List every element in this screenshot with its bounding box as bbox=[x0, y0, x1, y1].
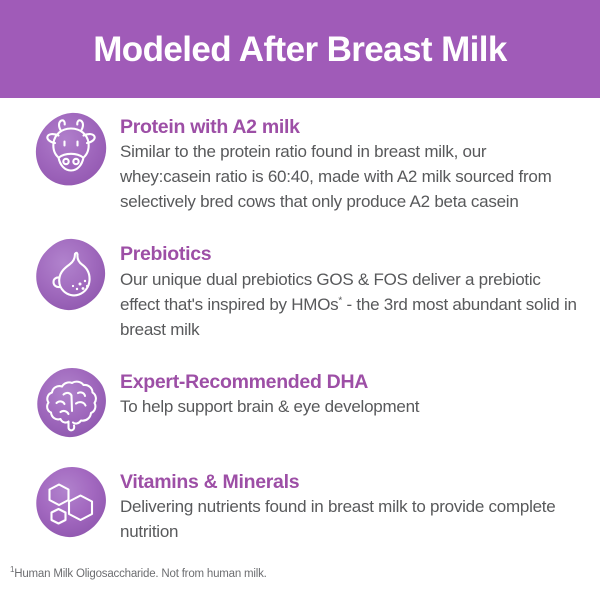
hexagons-icon bbox=[32, 465, 110, 543]
feature-text-protein: Protein with A2 milk Similar to the prot… bbox=[120, 110, 578, 215]
feature-list: Protein with A2 milk Similar to the prot… bbox=[0, 98, 600, 545]
feature-title: Vitamins & Minerals bbox=[120, 471, 578, 493]
feature-body: Delivering nutrients found in breast mil… bbox=[120, 495, 578, 545]
infographic-page: Modeled After Breast Milk bbox=[0, 0, 600, 600]
feature-item-dha: Expert-Recommended DHA To help support b… bbox=[0, 343, 600, 443]
stomach-icon bbox=[32, 237, 110, 315]
feature-body: To help support brain & eye development bbox=[120, 395, 578, 420]
feature-title: Prebiotics bbox=[120, 243, 578, 265]
footnote-text: Human Milk Oligosaccharide. Not from hum… bbox=[14, 568, 266, 580]
feature-item-protein: Protein with A2 milk Similar to the prot… bbox=[0, 98, 600, 215]
feature-item-vitamins: Vitamins & Minerals Delivering nutrients… bbox=[0, 443, 600, 545]
feature-body: Similar to the protein ratio found in br… bbox=[120, 140, 578, 215]
header-banner: Modeled After Breast Milk bbox=[0, 0, 600, 98]
feature-text-vitamins: Vitamins & Minerals Delivering nutrients… bbox=[120, 465, 578, 545]
page-title: Modeled After Breast Milk bbox=[93, 32, 507, 67]
cow-icon bbox=[32, 110, 110, 188]
feature-body: Our unique dual prebiotics GOS & FOS del… bbox=[120, 268, 578, 343]
feature-item-prebiotics: Prebiotics Our unique dual prebiotics GO… bbox=[0, 215, 600, 342]
feature-title: Expert-Recommended DHA bbox=[120, 371, 578, 393]
feature-text-prebiotics: Prebiotics Our unique dual prebiotics GO… bbox=[120, 237, 578, 342]
brain-icon bbox=[32, 365, 110, 443]
feature-title: Protein with A2 milk bbox=[120, 116, 578, 138]
feature-text-dha: Expert-Recommended DHA To help support b… bbox=[120, 365, 578, 420]
footnote: 1Human Milk Oligosaccharide. Not from hu… bbox=[10, 567, 590, 582]
